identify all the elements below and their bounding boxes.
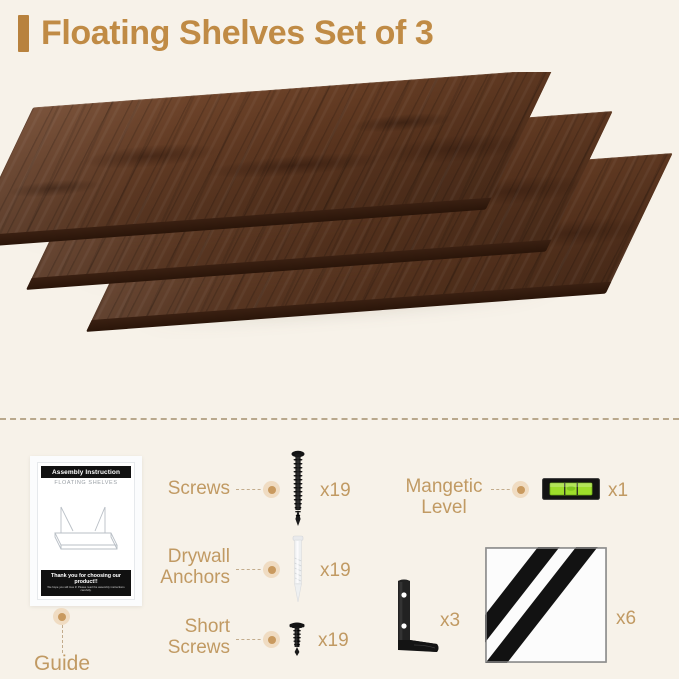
part-label-line1: Short xyxy=(118,616,230,637)
guide-label: Guide xyxy=(16,652,108,676)
qty-drywall-anchors: x19 xyxy=(320,560,351,582)
qty-magnetic-level: x1 xyxy=(608,480,628,502)
guide-connector-dot xyxy=(53,608,70,625)
connector-dot-drywall-anchors xyxy=(263,561,280,578)
part-label-line1: Mangetic xyxy=(380,476,508,497)
product-infographic: Floating Shelves Set of 3 Assembly Instr… xyxy=(0,0,679,679)
connector-dot-short-screws xyxy=(263,631,280,648)
part-label-line2: Anchors xyxy=(118,567,230,588)
l-bracket-icon xyxy=(382,576,444,660)
included-parts-section: Assembly Instruction FLOATING SHELVES xyxy=(0,428,679,679)
part-label-line2: Screws xyxy=(118,637,230,658)
part-label-line1: Drywall xyxy=(118,546,230,567)
part-label-short-screws: Short Screws xyxy=(118,616,230,659)
connector-dot-screws xyxy=(263,481,280,498)
title-accent-bar xyxy=(18,15,29,52)
booklet-footer-note: We hope you will love it! Please read th… xyxy=(45,586,128,593)
magnetic-level-icon xyxy=(540,476,602,502)
shelf-board-front xyxy=(0,72,553,237)
booklet-title: Assembly Instruction xyxy=(41,466,131,478)
section-divider xyxy=(0,418,679,420)
qty-screws: x19 xyxy=(320,480,351,502)
connector-line-short-screws xyxy=(236,639,266,640)
part-label-line2: Level xyxy=(380,497,508,518)
long-screw-icon xyxy=(283,448,313,528)
qty-l-bracket: x3 xyxy=(440,610,460,632)
part-label-drywall-anchors: Drywall Anchors xyxy=(118,546,230,589)
connector-dot-magnetic-level xyxy=(512,481,529,498)
drywall-anchor-icon xyxy=(283,533,313,605)
qty-short-screws: x19 xyxy=(318,630,349,652)
page-header: Floating Shelves Set of 3 xyxy=(18,14,433,53)
connector-line-screws xyxy=(236,489,266,490)
part-label-magnetic-level: Mangetic Level xyxy=(380,476,508,519)
part-label-screws: Screws xyxy=(130,478,230,499)
flat-bar-bracket-icon xyxy=(484,546,608,664)
short-screw-icon xyxy=(283,617,311,659)
hero-product-image xyxy=(0,72,679,392)
page-title: Floating Shelves Set of 3 xyxy=(41,14,433,53)
booklet-footer-title: Thank you for choosing our product!! xyxy=(43,573,129,585)
connector-line-drywall-anchors xyxy=(236,569,266,570)
guide-connector-line xyxy=(62,625,63,653)
qty-flat-bar-brackets: x6 xyxy=(616,608,636,630)
